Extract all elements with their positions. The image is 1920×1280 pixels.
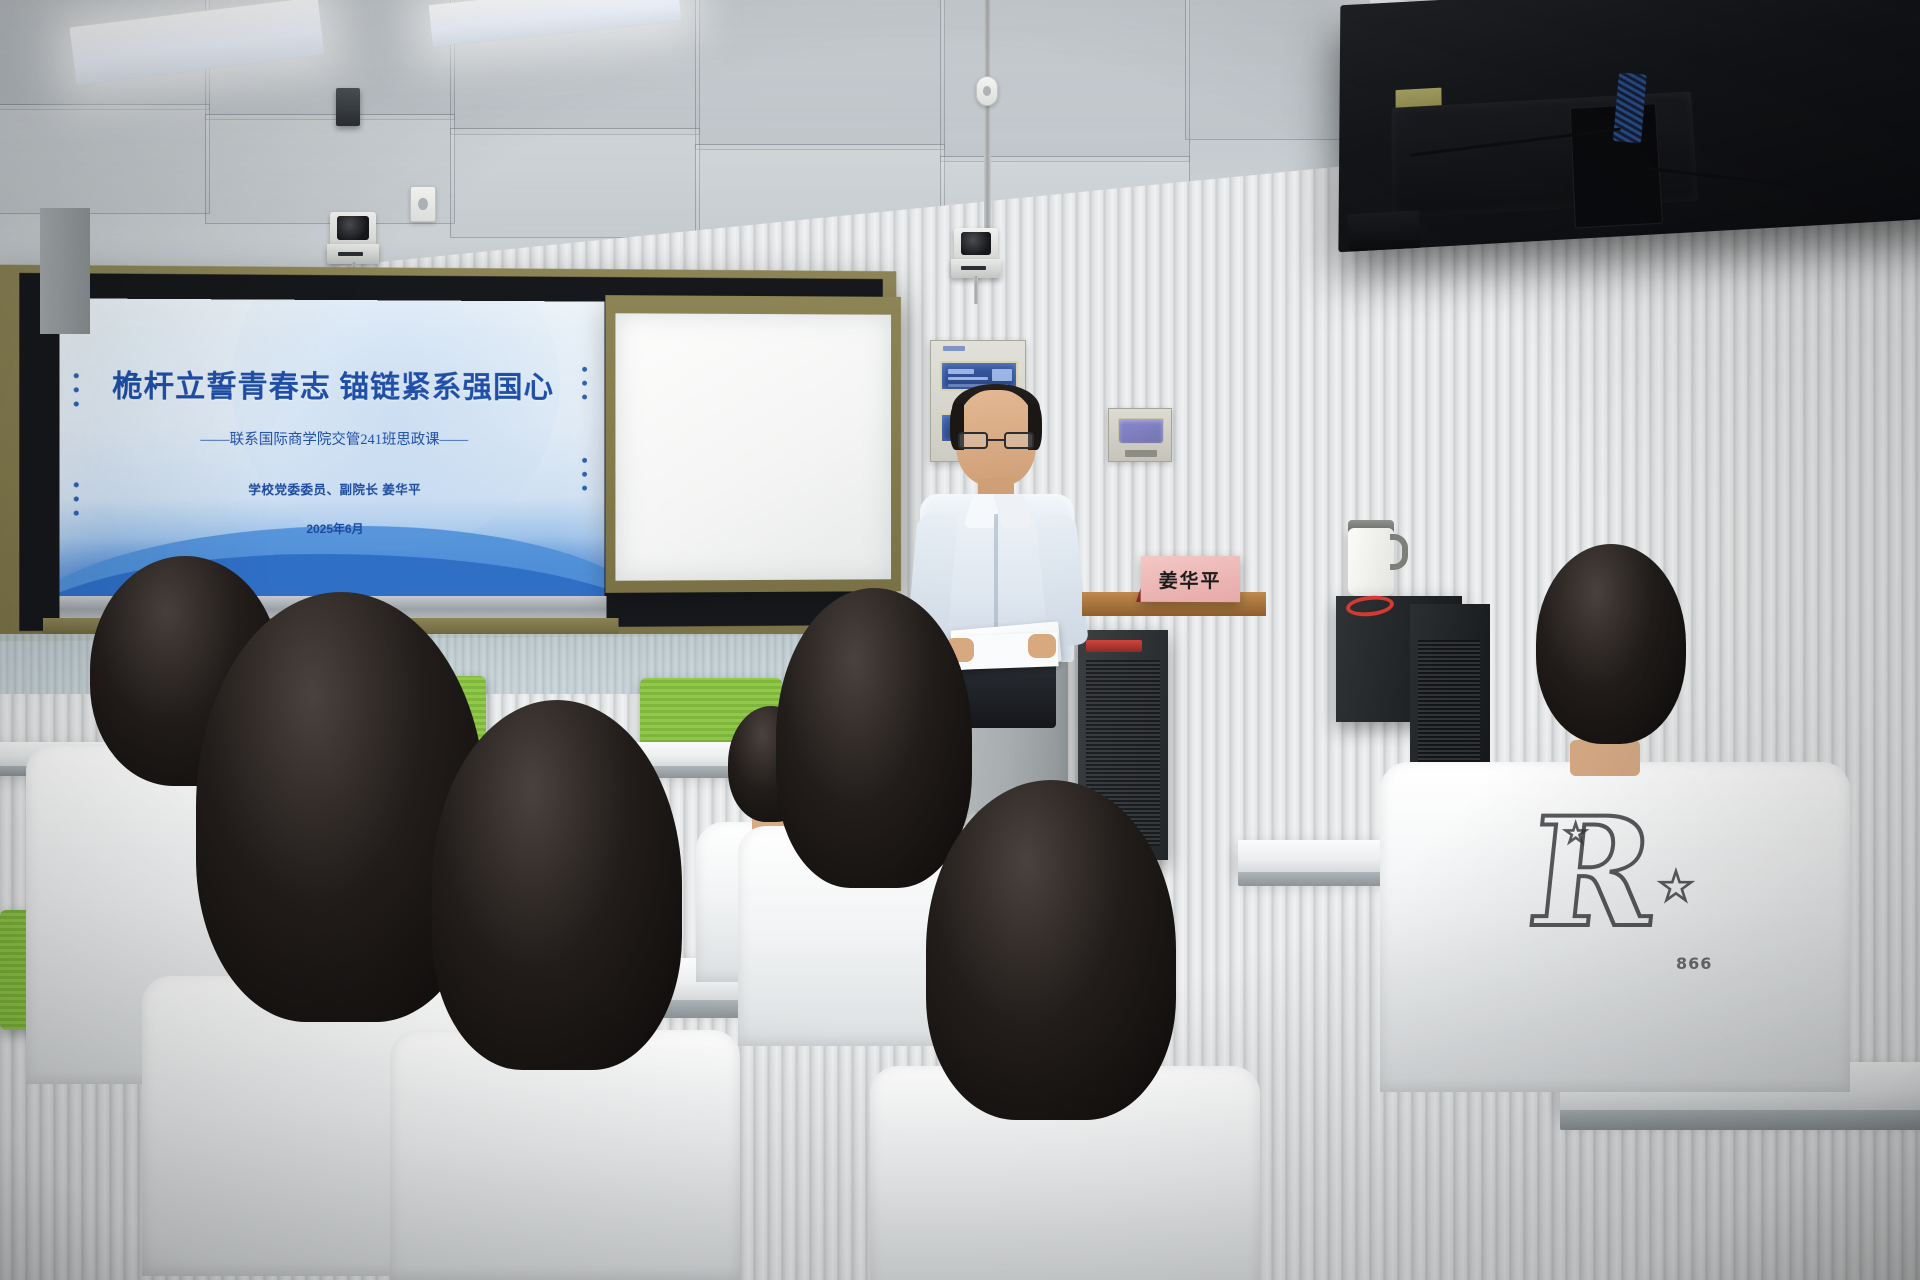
slide-title: 桅杆立誓青春志 锚链紧系强国心 — [59, 361, 604, 406]
wall-switch-box[interactable] — [1108, 408, 1172, 462]
classroom-photo: 桅杆立誓青春志 锚链紧系强国心 ——联系国际商学院交管241班思政课—— 学校党… — [0, 0, 1920, 1280]
wall-tracking-camera-right — [954, 228, 998, 278]
wall-tracking-camera-left — [330, 212, 376, 264]
tv-bottom-speaker — [1347, 210, 1421, 251]
name-placard: 姜华平 — [1141, 556, 1240, 602]
name-placard-text: 姜华平 — [1159, 565, 1222, 592]
shirt-logo-letter: R — [1522, 798, 1662, 948]
lectern-base — [40, 208, 90, 334]
switch-box-label — [1125, 450, 1157, 457]
slide-date: 2025年6月 — [59, 519, 604, 538]
wall-sensor-box — [410, 186, 436, 222]
shirt-logo-star-large: ★ — [1658, 864, 1694, 910]
pole-sensor — [976, 76, 998, 106]
student-7-hair — [1536, 544, 1686, 744]
student-6 — [896, 780, 1226, 1280]
student-3-hair — [432, 700, 682, 1070]
panel-brand-tag — [943, 346, 965, 351]
rack-red-panel — [1086, 640, 1142, 652]
student-3 — [414, 700, 714, 1280]
speaker-glasses — [958, 432, 1034, 449]
camera-arm-right — [974, 276, 978, 304]
whiteboard-surface[interactable] — [615, 313, 891, 580]
tv-cable-bundle — [1613, 72, 1647, 143]
switch-box-cover[interactable] — [1118, 418, 1164, 444]
slide-subtitle: ——联系国际商学院交管241班思政课—— — [59, 428, 604, 449]
slide-presenter: 学校党委委员、副院长 姜华平 — [59, 479, 604, 499]
whiteboard — [605, 295, 901, 593]
student-7: R ★ ★ 866 — [1420, 602, 1840, 1072]
ceiling-mounted-tv — [1338, 0, 1920, 252]
camera-pole-right — [984, 0, 991, 230]
shirt-logo-number: 866 — [1676, 954, 1712, 973]
student-6-hair — [926, 780, 1176, 1120]
speaker-hand-right — [1028, 634, 1056, 658]
ceiling-speaker — [336, 88, 360, 126]
thermal-kettle — [1348, 528, 1394, 596]
shirt-logo-star-small: ★ — [1564, 818, 1587, 849]
